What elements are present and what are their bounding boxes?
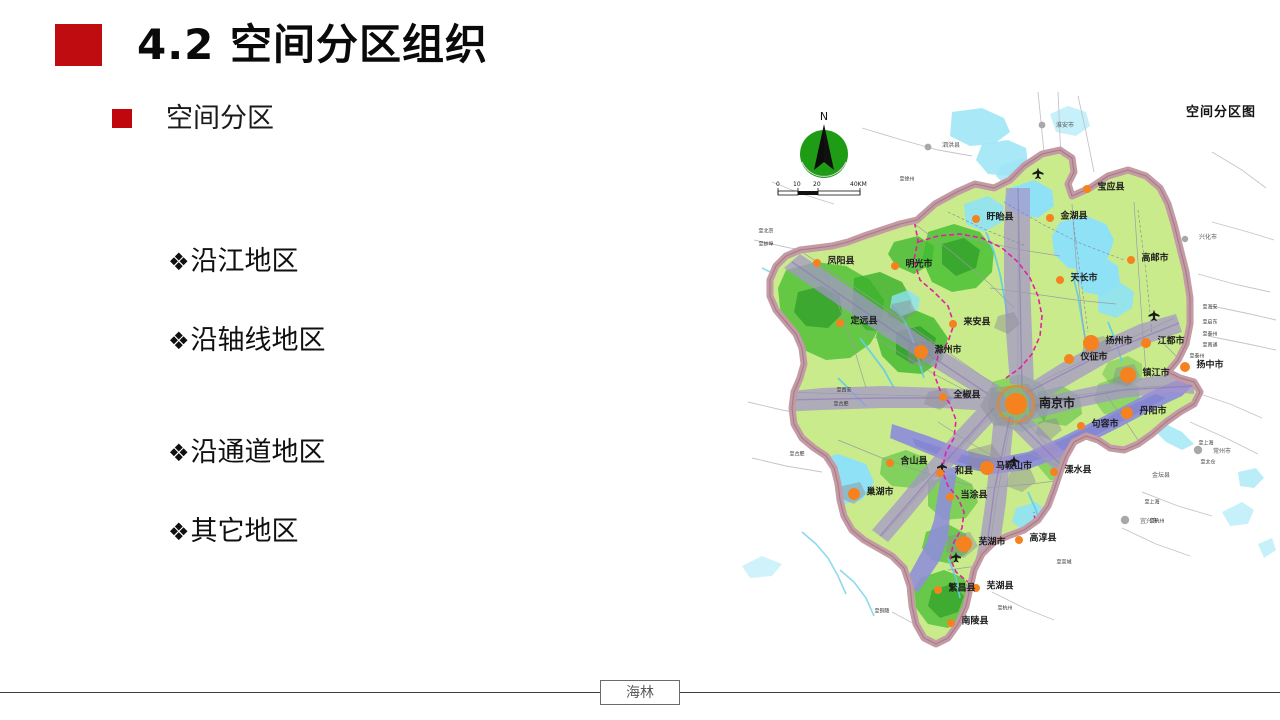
city-label: 高淳县 bbox=[1029, 535, 1056, 544]
road-destination-label: 至上海 bbox=[1144, 501, 1159, 506]
city-label: 扬州市 bbox=[1105, 338, 1132, 347]
list-item-label: 沿江地区 bbox=[191, 248, 299, 275]
city-label: 巢湖市 bbox=[866, 489, 893, 498]
list-item-label: 沿轴线地区 bbox=[191, 327, 326, 354]
city-label: 天长市 bbox=[1070, 275, 1097, 284]
city-label: 南京市 bbox=[1039, 397, 1075, 409]
road-destination-label: 至南通 bbox=[1202, 344, 1217, 349]
city-label: 溧水县 bbox=[1064, 467, 1091, 476]
road-destination-label: 至合肥 bbox=[833, 403, 848, 408]
city-label: 丹阳市 bbox=[1139, 408, 1166, 417]
city-label: 芜湖县 bbox=[986, 583, 1013, 592]
city-label: 南陵县 bbox=[961, 618, 988, 627]
city-label: 马鞍山市 bbox=[996, 463, 1032, 472]
slide-footer: 海林 bbox=[0, 692, 1280, 720]
road-destination-label: 至太仓 bbox=[1200, 461, 1215, 466]
diamond-bullet-icon: ❖ bbox=[168, 250, 190, 274]
list-item: ❖ 沿轴线地区 bbox=[168, 327, 588, 354]
road-destination-label: 至北京 bbox=[758, 230, 773, 235]
list-item-label: 沿通道地区 bbox=[191, 439, 326, 466]
city-label: 和县 bbox=[955, 468, 973, 477]
city-label: 繁昌县 bbox=[948, 585, 975, 594]
list-item: ❖ 其它地区 bbox=[168, 518, 588, 545]
city-label: 凤阳县 bbox=[827, 258, 854, 267]
subtitle-bullet-square bbox=[112, 109, 132, 128]
slide-title-row: 4.2 空间分区组织 bbox=[55, 24, 488, 66]
road-destination-label: 至宣城 bbox=[1056, 561, 1071, 566]
footer-rule-left bbox=[0, 692, 600, 693]
city-label: 淮安市 bbox=[1056, 123, 1074, 129]
diamond-bullet-icon: ❖ bbox=[168, 329, 190, 353]
city-label: 常州市 bbox=[1213, 449, 1231, 455]
diamond-bullet-icon: ❖ bbox=[168, 520, 190, 544]
road-destination-label: 至泰州 bbox=[1189, 355, 1204, 360]
road-destination-label: 至徐州 bbox=[899, 178, 914, 183]
city-label: 句容市 bbox=[1091, 421, 1118, 430]
city-label: 泗洪县 bbox=[942, 143, 960, 149]
city-label: 镇江市 bbox=[1142, 370, 1169, 379]
road-destination-label: 至启东 bbox=[1202, 321, 1217, 326]
city-label: 来安县 bbox=[963, 319, 990, 328]
road-destination-label: 至杭州 bbox=[1149, 520, 1164, 525]
road-destination-label: 至上海 bbox=[1198, 442, 1213, 447]
city-label: 金湖县 bbox=[1060, 213, 1087, 222]
city-label: 含山县 bbox=[900, 458, 927, 467]
road-destination-label: 至西安 bbox=[836, 389, 851, 394]
city-label: 滁州市 bbox=[934, 347, 961, 356]
list-item-label: 其它地区 bbox=[191, 518, 299, 545]
footer-label-box: 海林 bbox=[600, 680, 680, 705]
bullet-list: ❖ 沿江地区 ❖ 沿轴线地区 ❖ 沿通道地区 ❖ 其它地区 bbox=[168, 248, 588, 545]
city-label: 兴化市 bbox=[1199, 235, 1217, 241]
city-label: 金坛县 bbox=[1152, 473, 1170, 479]
list-item: ❖ 沿江地区 bbox=[168, 248, 588, 275]
footer-label: 海林 bbox=[626, 686, 654, 700]
map-label-layer: 南京市扬州市江都市镇江市仪征市扬中市丹阳市句容市滁州市全椒县来安县明光市凤阳县定… bbox=[742, 92, 1278, 664]
list-item: ❖ 沿通道地区 bbox=[168, 439, 588, 466]
city-label: 仪征市 bbox=[1080, 354, 1107, 363]
road-destination-label: 至蚌埠 bbox=[758, 243, 773, 248]
slide-canvas: 4.2 空间分区组织 空间分区 ❖ 沿江地区 ❖ 沿轴线地区 ❖ 沿通道地区 ❖… bbox=[0, 0, 1280, 720]
city-label: 盱眙县 bbox=[986, 214, 1013, 223]
road-destination-label: 至合肥 bbox=[789, 453, 804, 458]
footer-rule-right bbox=[680, 692, 1280, 693]
map-figure: 空间分区图 N 0 10 20 bbox=[742, 92, 1278, 664]
slide-subtitle-row: 空间分区 bbox=[112, 105, 274, 132]
road-destination-label: 至铜陵 bbox=[874, 610, 889, 615]
diamond-bullet-icon: ❖ bbox=[168, 441, 190, 465]
road-destination-label: 至泰州 bbox=[1202, 333, 1217, 338]
title-bullet-square bbox=[55, 24, 102, 66]
city-label: 扬中市 bbox=[1196, 362, 1223, 371]
road-destination-label: 至杭州 bbox=[997, 607, 1012, 612]
city-label: 当涂县 bbox=[960, 492, 987, 501]
city-label: 明光市 bbox=[905, 261, 932, 270]
city-label: 定远县 bbox=[850, 318, 877, 327]
city-label: 全椒县 bbox=[953, 392, 980, 401]
page-title: 4.2 空间分区组织 bbox=[137, 24, 488, 66]
road-destination-label: 至海安 bbox=[1202, 306, 1217, 311]
city-label: 高邮市 bbox=[1141, 255, 1168, 264]
city-label: 宝应县 bbox=[1097, 184, 1124, 193]
city-label: 芜湖市 bbox=[978, 539, 1005, 548]
city-label: 江都市 bbox=[1157, 338, 1184, 347]
slide-subtitle: 空间分区 bbox=[166, 105, 274, 132]
